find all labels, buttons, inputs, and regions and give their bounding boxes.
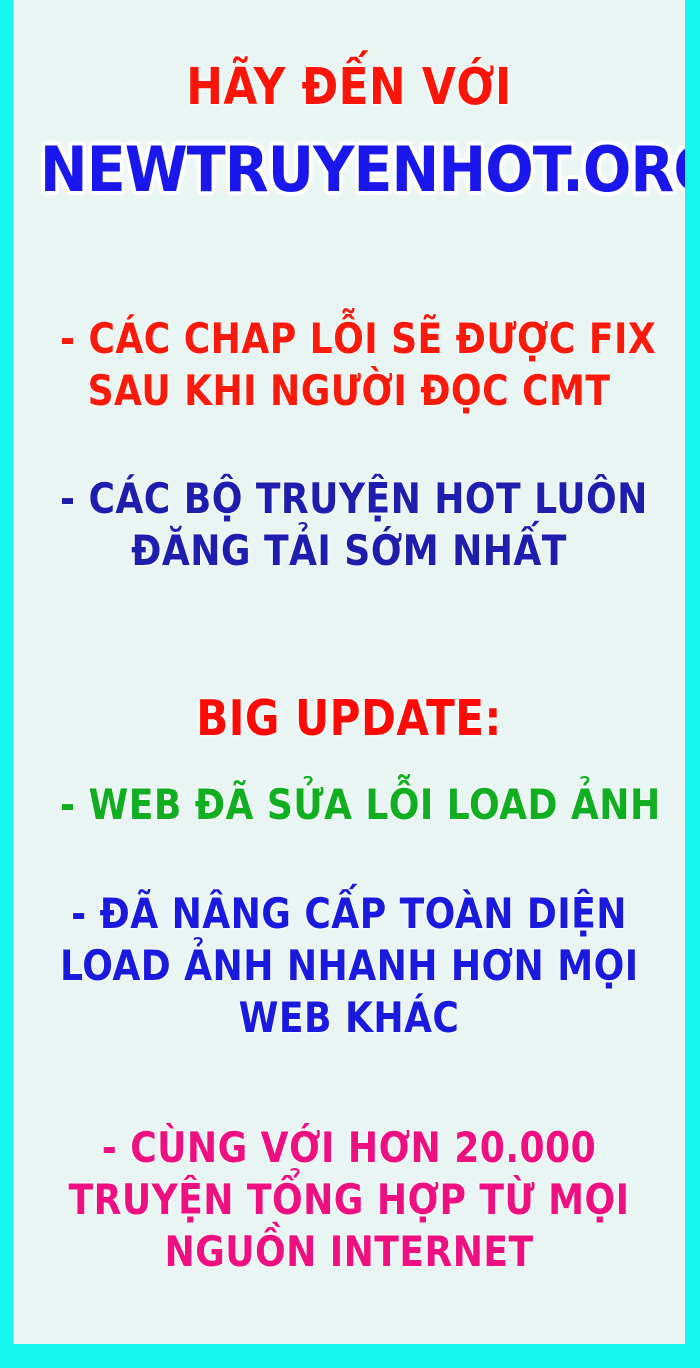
notice-navy-line-1: - CÁC BỘ TRUYỆN HOT LUÔN — [60, 478, 638, 520]
site-url-text[interactable]: NEWTRUYENHOT.ORG — [40, 139, 658, 201]
notice-pink-line-3: NGUỒN INTERNET — [60, 1231, 638, 1273]
notice-pink: - CÙNG VỚI HƠN 20.000 TRUYỆN TỔNG HỢP TỪ… — [13, 1127, 685, 1283]
notice-blue-line-2: LOAD ẢNH NHANH HƠN MỌI — [60, 945, 638, 987]
notice-green-line-1: - WEB ĐÃ SỬA LỖI LOAD ẢNH — [60, 784, 638, 826]
notice-blue-line-1: - ĐÃ NÂNG CẤP TOÀN DIỆN — [60, 893, 638, 935]
notice-navy: - CÁC BỘ TRUYỆN HOT LUÔN ĐĂNG TẢI SỚM NH… — [13, 478, 685, 582]
headline-primary: HÃY ĐẾN VỚI — [13, 62, 685, 113]
notice-navy-line-2: ĐĂNG TẢI SỚM NHẤT — [60, 530, 638, 572]
notice-red: - CÁC CHAP LỖI SẼ ĐƯỢC FIX SAU KHI NGƯỜI… — [13, 318, 685, 422]
site-url-headline[interactable]: NEWTRUYENHOT.ORG — [13, 139, 685, 201]
notice-green: - WEB ĐÃ SỬA LỖI LOAD ẢNH — [13, 784, 685, 826]
big-update-heading-text: BIG UPDATE: — [60, 694, 638, 743]
headline-primary-line: HÃY ĐẾN VỚI — [60, 62, 638, 113]
notice-red-line-2: SAU KHI NGƯỜI ĐỌC CMT — [60, 370, 638, 412]
notice-red-line-1: - CÁC CHAP LỖI SẼ ĐƯỢC FIX — [60, 318, 638, 360]
big-update-heading: BIG UPDATE: — [13, 694, 685, 743]
notice-blue: - ĐÃ NÂNG CẤP TOÀN DIỆN LOAD ẢNH NHANH H… — [13, 893, 685, 1049]
notice-blue-line-3: WEB KHÁC — [60, 997, 638, 1039]
notice-pink-line-1: - CÙNG VỚI HƠN 20.000 — [60, 1127, 638, 1169]
promo-banner: HÃY ĐẾN VỚI NEWTRUYENHOT.ORG - CÁC CHAP … — [0, 0, 700, 1368]
banner-content-panel: HÃY ĐẾN VỚI NEWTRUYENHOT.ORG - CÁC CHAP … — [13, 0, 685, 1344]
notice-pink-line-2: TRUYỆN TỔNG HỢP TỪ MỌI — [60, 1179, 638, 1221]
